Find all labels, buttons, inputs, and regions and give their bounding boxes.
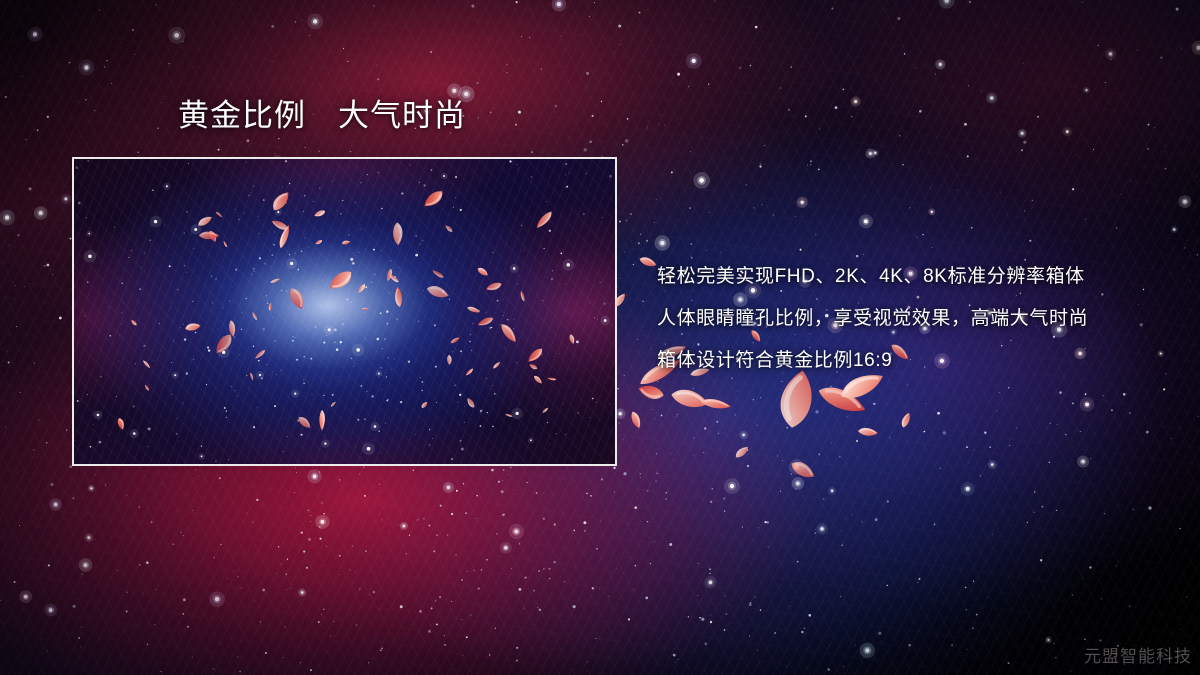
watermark: 元盟智能科技 [1084,642,1192,667]
framed-photo-16-9 [72,157,617,466]
photo-starfield [74,159,615,466]
page-title: 黄金比例 大气时尚 [178,100,466,131]
body-text-block: 轻松完美实现FHD、2K、4K、8K标准分辨率箱体 人体眼睛瞳孔比例，享受视觉效… [657,256,1157,382]
presentation-slide: 黄金比例 大气时尚 轻松完美实现FHD、2K、4K、8K标准分辨率箱体 人体眼睛… [0,0,1200,675]
body-line-2: 人体眼睛瞳孔比例，享受视觉效果，高端大气时尚 [657,298,1157,340]
body-line-3: 箱体设计符合黄金比例16:9 [657,340,1157,382]
body-line-1: 轻松完美实现FHD、2K、4K、8K标准分辨率箱体 [657,256,1157,298]
